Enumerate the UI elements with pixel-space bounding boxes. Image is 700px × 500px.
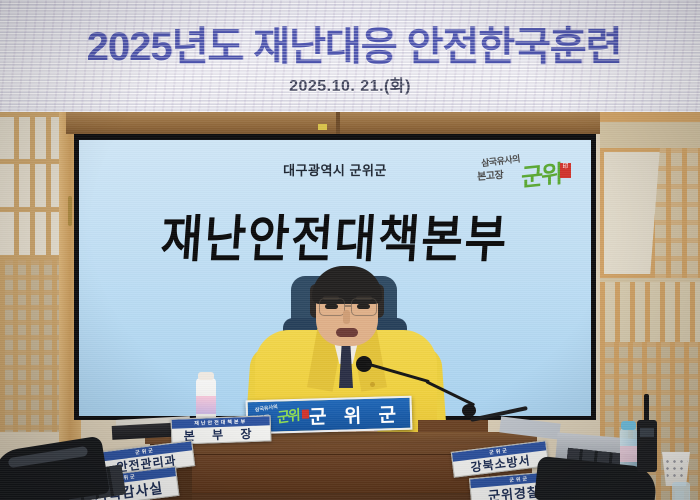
- logo-wordmark: 군위: [521, 154, 561, 193]
- photo-scene: 2025년도 재난대응 안전한국훈련 2025.10. 21.(화) 대구광역시…: [0, 0, 700, 500]
- banner-date: 2025.10. 21.(화): [0, 72, 700, 96]
- nameplate-blue-label: 군 위 군: [305, 399, 411, 429]
- water-bottle-icon-far-right: [672, 482, 690, 500]
- lattice-paper-panel: [0, 112, 59, 260]
- desk-front-panel: [190, 454, 490, 494]
- water-bottle-cap-center: [198, 372, 214, 380]
- logo-line2: 본고장: [477, 166, 504, 183]
- water-bottle-label-right: [620, 446, 637, 462]
- mouth-speaking: [336, 328, 358, 337]
- lattice-grid-left: [0, 260, 59, 432]
- display-headline: 재난안전대책본부: [79, 198, 591, 271]
- walkie-talkie-antenna: [644, 394, 649, 422]
- plate-logo-seal-icon: [302, 410, 309, 419]
- paper-cup-pattern: [664, 458, 688, 480]
- plate-logo-wordmark: 군위: [277, 405, 299, 428]
- microphone-icon-right: [462, 404, 476, 417]
- walkie-talkie-screen: [640, 428, 654, 437]
- event-backdrop-banner: 2025년도 재난대응 안전한국훈련 2025.10. 21.(화): [0, 0, 700, 112]
- water-bottle-label-center: [196, 396, 216, 414]
- glasses-lens-left: [319, 298, 345, 316]
- glasses-lens-right: [351, 298, 377, 316]
- ceiling-beam: [66, 112, 600, 134]
- water-bottle-cap-right: [621, 421, 636, 430]
- gunwi-brand-logo: 삼국유사의 본고장 군위 印: [477, 154, 569, 190]
- door-handle[interactable]: [68, 196, 72, 226]
- logo-seal-icon: 印: [560, 163, 571, 178]
- banner-title: 2025년도 재난대응 안전한국훈련: [0, 14, 700, 72]
- beam-marker: [318, 124, 327, 130]
- hanok-lattice-left: [0, 112, 66, 432]
- nose: [343, 310, 350, 324]
- glasses-bridge: [345, 305, 351, 307]
- jacket-pin: [370, 382, 375, 387]
- beam-seam: [336, 112, 340, 134]
